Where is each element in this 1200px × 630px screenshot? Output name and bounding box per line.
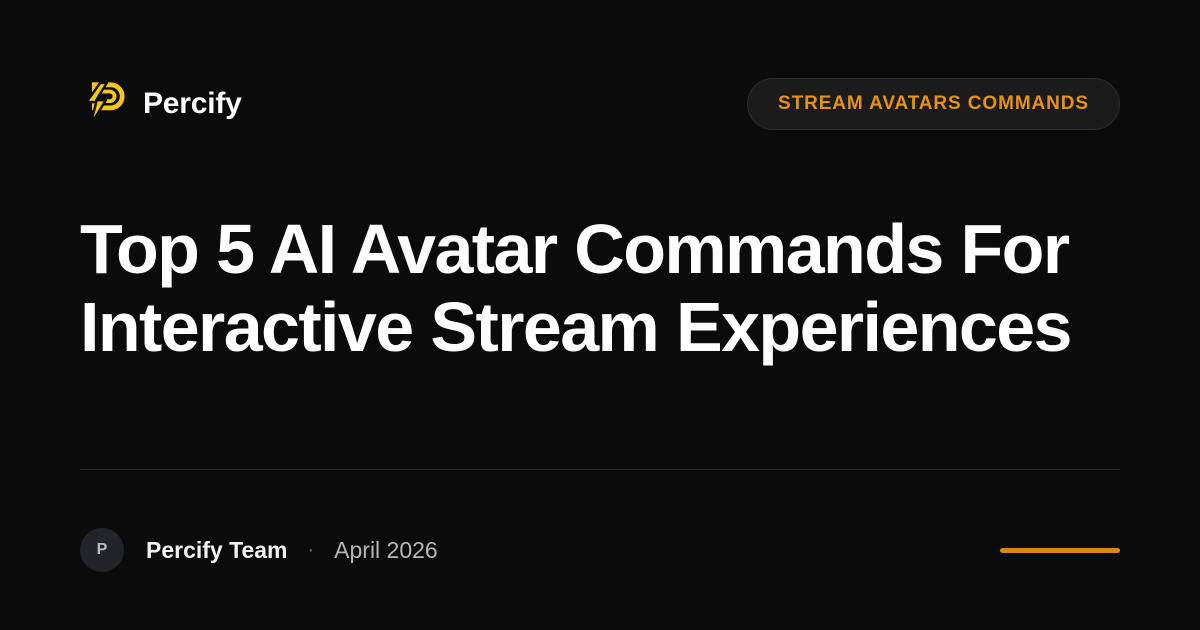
percify-logo-icon bbox=[80, 80, 126, 128]
publish-date: April 2026 bbox=[334, 537, 438, 564]
card-header: Percify STREAM AVATARS COMMANDS bbox=[80, 0, 1120, 210]
page-title: Top 5 AI Avatar Commands For Interactive… bbox=[80, 210, 1120, 367]
avatar: P bbox=[80, 528, 124, 572]
brand-lockup[interactable]: Percify bbox=[80, 78, 242, 130]
byline: P Percify Team · April 2026 bbox=[80, 528, 438, 572]
brand-name: Percify bbox=[143, 89, 242, 119]
social-share-card: Percify STREAM AVATARS COMMANDS Top 5 AI… bbox=[0, 0, 1200, 630]
category-badge[interactable]: STREAM AVATARS COMMANDS bbox=[747, 78, 1120, 130]
card-footer: P Percify Team · April 2026 bbox=[80, 470, 1120, 630]
title-area: Top 5 AI Avatar Commands For Interactive… bbox=[80, 210, 1120, 469]
category-badge-label: STREAM AVATARS COMMANDS bbox=[778, 93, 1089, 115]
author-name: Percify Team bbox=[146, 537, 287, 564]
byline-separator: · bbox=[307, 540, 314, 560]
accent-bar bbox=[1000, 548, 1120, 553]
